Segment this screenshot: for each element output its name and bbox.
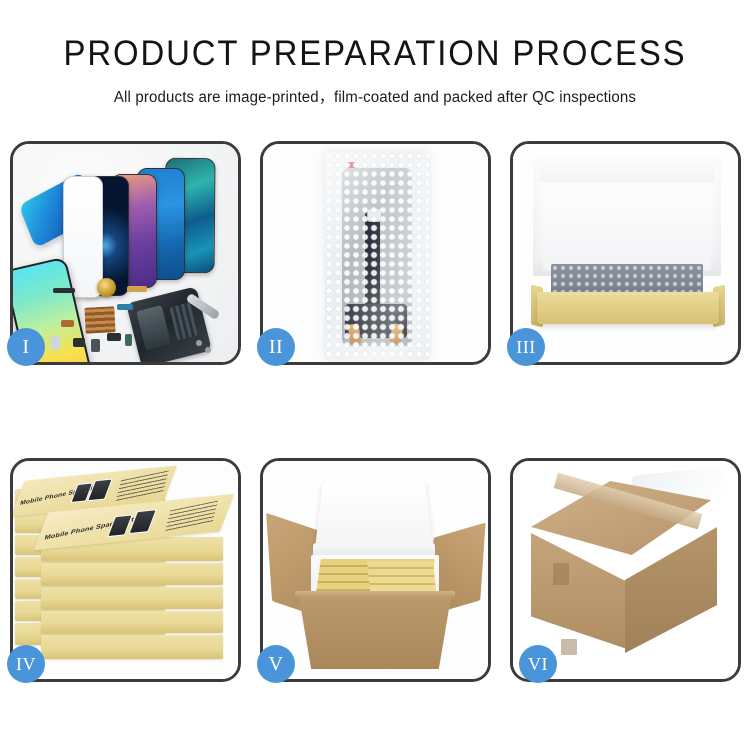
bubble-wrap-bag: [325, 152, 429, 360]
panel-1-image: [13, 144, 238, 362]
process-step-panel-2: II: [260, 141, 491, 365]
step-badge-1: I: [7, 328, 45, 366]
step-badge-6: VI: [519, 645, 557, 683]
step-badge-3: III: [507, 328, 545, 366]
page-subtitle: All products are image-printed，film-coat…: [11, 85, 739, 107]
kraft-tray-box: [537, 292, 719, 324]
part-chip-3: [91, 339, 100, 352]
part-chip-4: [107, 333, 121, 341]
carton-tab-lower: [561, 639, 577, 655]
stack-box-b2: [41, 563, 223, 585]
box-spec-lines-a: [115, 471, 168, 502]
part-chip-1: [53, 288, 75, 293]
process-steps-grid: I II: [10, 141, 741, 682]
stack-box-b5: [41, 635, 223, 659]
process-step-panel-6: VI: [510, 458, 741, 682]
foam-lid-top: [539, 156, 715, 182]
box-stack-front: Mobile Phone Spare Parts: [41, 515, 223, 671]
panel-3-image: [513, 144, 738, 362]
panel-2-image: [263, 144, 488, 362]
foam-lid-open: [315, 481, 434, 553]
part-chip-5: [125, 334, 132, 346]
step-badge-2: II: [257, 328, 295, 366]
panel-5-image: [263, 461, 488, 679]
part-chip-7: [127, 286, 147, 292]
carton-front-wall: [299, 597, 451, 669]
box-thumbnail-b2: [128, 509, 157, 534]
stack-box-b3: [41, 587, 223, 609]
part-chip-6: [117, 304, 133, 310]
process-step-panel-1: I: [10, 141, 241, 365]
plastic-sheen: [325, 152, 429, 360]
box-spec-lines-b: [165, 501, 218, 532]
part-chip-8: [61, 320, 74, 327]
speaker-coil-part-icon: [97, 278, 116, 297]
connector-grid-part-icon: [84, 306, 115, 334]
step-badge-4: IV: [7, 645, 45, 683]
carton-tab-upper: [553, 563, 569, 585]
part-chip-9: [51, 336, 60, 350]
panel-4-image: Mobile Phone Spare Parts Mobile Phone Sp…: [13, 461, 238, 679]
process-step-panel-5: V: [260, 458, 491, 682]
step-badge-5: V: [257, 645, 295, 683]
stack-box-b4: [41, 611, 223, 633]
page-header: PRODUCT PREPARATION PROCESS All products…: [0, 0, 750, 107]
part-chip-2: [73, 338, 85, 347]
screw-part-2: [205, 347, 211, 353]
page-title: PRODUCT PREPARATION PROCESS: [23, 34, 728, 74]
process-step-panel-4: Mobile Phone Spare Parts Mobile Phone Sp…: [10, 458, 241, 682]
screw-part-1: [196, 340, 202, 346]
foam-sheet: [543, 196, 711, 270]
process-step-panel-3: III: [510, 141, 741, 365]
